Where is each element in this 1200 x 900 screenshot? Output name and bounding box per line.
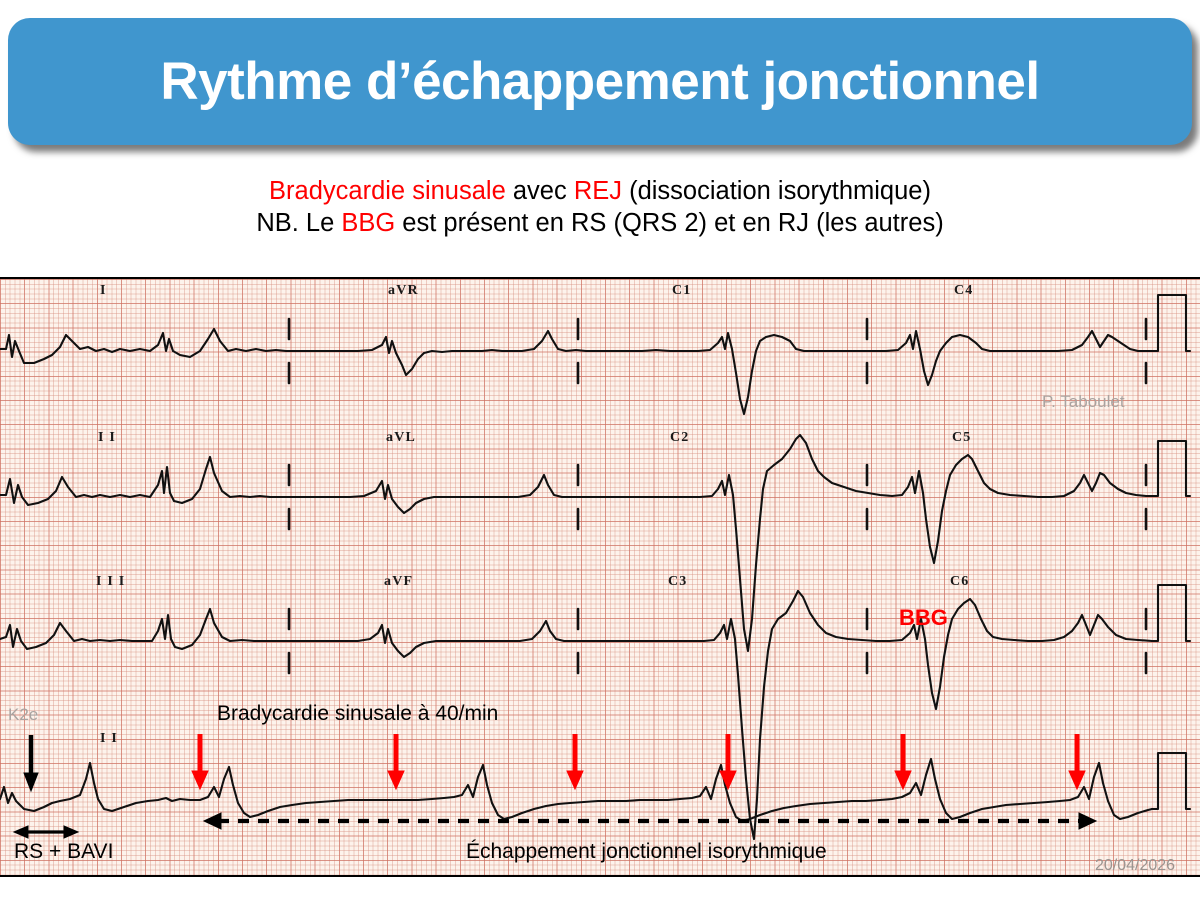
p-wave-marker-6 xyxy=(1069,734,1085,789)
lead-label-I: I xyxy=(100,283,107,299)
slide-root: Rythme d’échappement jonctionnel Bradyca… xyxy=(0,0,1200,900)
rs-bavi-interval-arrow xyxy=(14,826,78,838)
ecg-traces xyxy=(0,279,1200,877)
rhythm-strip-markers xyxy=(24,734,1085,791)
p-wave-marker-1 xyxy=(192,734,208,789)
ecg-chart-panel: I aVR C1 C4 I I aVL C2 C5 I I I aVF C3 C… xyxy=(0,277,1200,877)
lead-label-C5: C5 xyxy=(952,430,972,446)
watermark-author: P. Taboulet xyxy=(1042,392,1125,412)
annotation-rs-bavi: RS + BAVI xyxy=(14,840,113,864)
subtitle-1-plain-2: (dissociation isorythmique) xyxy=(622,177,931,205)
p-wave-marker-5 xyxy=(895,734,911,789)
p-wave-marker-arrows xyxy=(192,734,1085,789)
ecg-row-2 xyxy=(0,435,1190,651)
subtitle-line-2: NB. Le BBG est présent en RS (QRS 2) et … xyxy=(0,207,1200,239)
lead-label-aVF: aVF xyxy=(384,574,413,590)
watermark-date: 20/04/2026 xyxy=(1095,857,1175,875)
subtitle-block: Bradycardie sinusale avec REJ (dissociat… xyxy=(0,175,1200,239)
annotation-bradycardia: Bradycardie sinusale à 40/min xyxy=(217,702,498,726)
annotation-bbg: BBG xyxy=(899,605,948,631)
subtitle-line-1: Bradycardie sinusale avec REJ (dissociat… xyxy=(0,175,1200,207)
p-wave-marker-3 xyxy=(567,734,583,789)
lead-label-aVL: aVL xyxy=(386,430,416,446)
lead-label-III: I I I xyxy=(96,574,125,590)
subtitle-1-plain-1: avec xyxy=(506,177,574,205)
p-wave-marker-2 xyxy=(388,734,404,789)
sinus-marker-arrow xyxy=(24,735,38,791)
subtitle-2-plain-2: est présent en RS (QRS 2) et en RJ (les … xyxy=(395,209,943,237)
title-banner: Rythme d’échappement jonctionnel xyxy=(8,18,1192,145)
lead-label-C2: C2 xyxy=(670,430,690,446)
page-title: Rythme d’échappement jonctionnel xyxy=(160,55,1039,108)
lead-label-aVR: aVR xyxy=(388,283,419,299)
annotation-escape: Échappement jonctionnel isorythmique xyxy=(466,840,827,864)
subtitle-1-highlight-2: REJ xyxy=(574,177,622,205)
lead-label-C1: C1 xyxy=(672,283,692,299)
subtitle-2-plain-1: NB. Le xyxy=(256,209,341,237)
watermark-device: K2e xyxy=(8,705,38,725)
subtitle-2-highlight-1: BBG xyxy=(341,209,395,237)
lead-label-C3: C3 xyxy=(668,574,688,590)
subtitle-1-highlight-1: Bradycardie sinusale xyxy=(269,177,506,205)
lead-label-rhythm-II: I I xyxy=(100,731,118,747)
ecg-row-1 xyxy=(0,295,1190,414)
lead-label-C6: C6 xyxy=(950,574,970,590)
interval-arrows xyxy=(14,813,1096,838)
p-wave-marker-4 xyxy=(720,734,736,789)
lead-label-II: I I xyxy=(98,430,116,446)
ecg-rhythm-strip xyxy=(0,753,1190,821)
lead-label-C4: C4 xyxy=(954,283,974,299)
